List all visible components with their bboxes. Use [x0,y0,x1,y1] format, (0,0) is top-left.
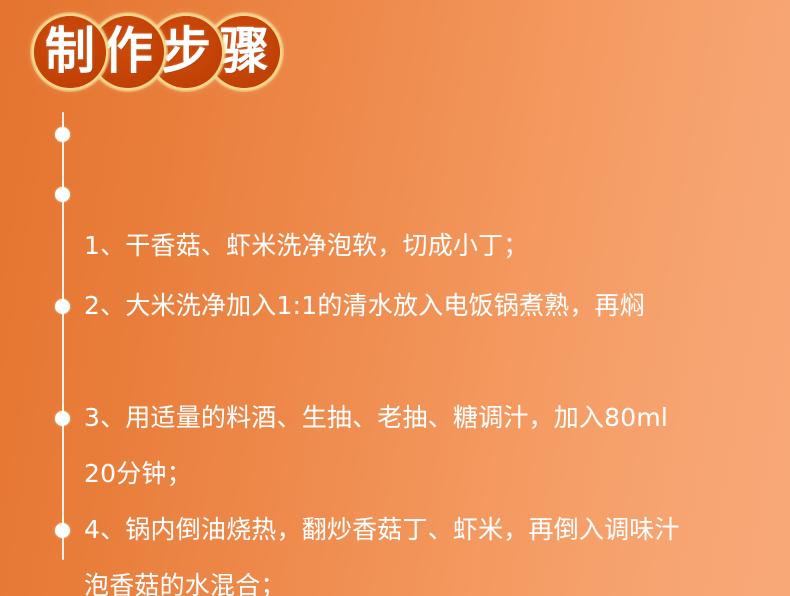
step-text-5: 5、将煮好的米饭和汤汁搅拌均匀即可。 [84,502,774,596]
step-bullet-icon [55,127,70,142]
step-bullet-icon [55,411,70,426]
title-char-2: 作 [103,26,153,76]
step-bullet-icon [55,187,70,202]
title-char-4: 骤 [219,26,269,76]
step-bullet-icon [55,299,70,314]
step-bullet-icon [55,523,70,538]
title-char-1: 制 [45,26,95,76]
title-badge-1: 制 [34,16,106,88]
recipe-steps-panel: 制 作 步 骤 1、干香菇、虾米洗净泡软，切成小丁； 2、大米洗净加入1:1的清… [0,0,790,596]
timeline-rail [62,112,64,560]
title-char-3: 步 [161,26,211,76]
page-title: 制 作 步 骤 [34,16,314,92]
steps-list: 1、干香菇、虾米洗净泡软，切成小丁； 2、大米洗净加入1:1的清水放入电饭锅煮熟… [0,106,790,576]
